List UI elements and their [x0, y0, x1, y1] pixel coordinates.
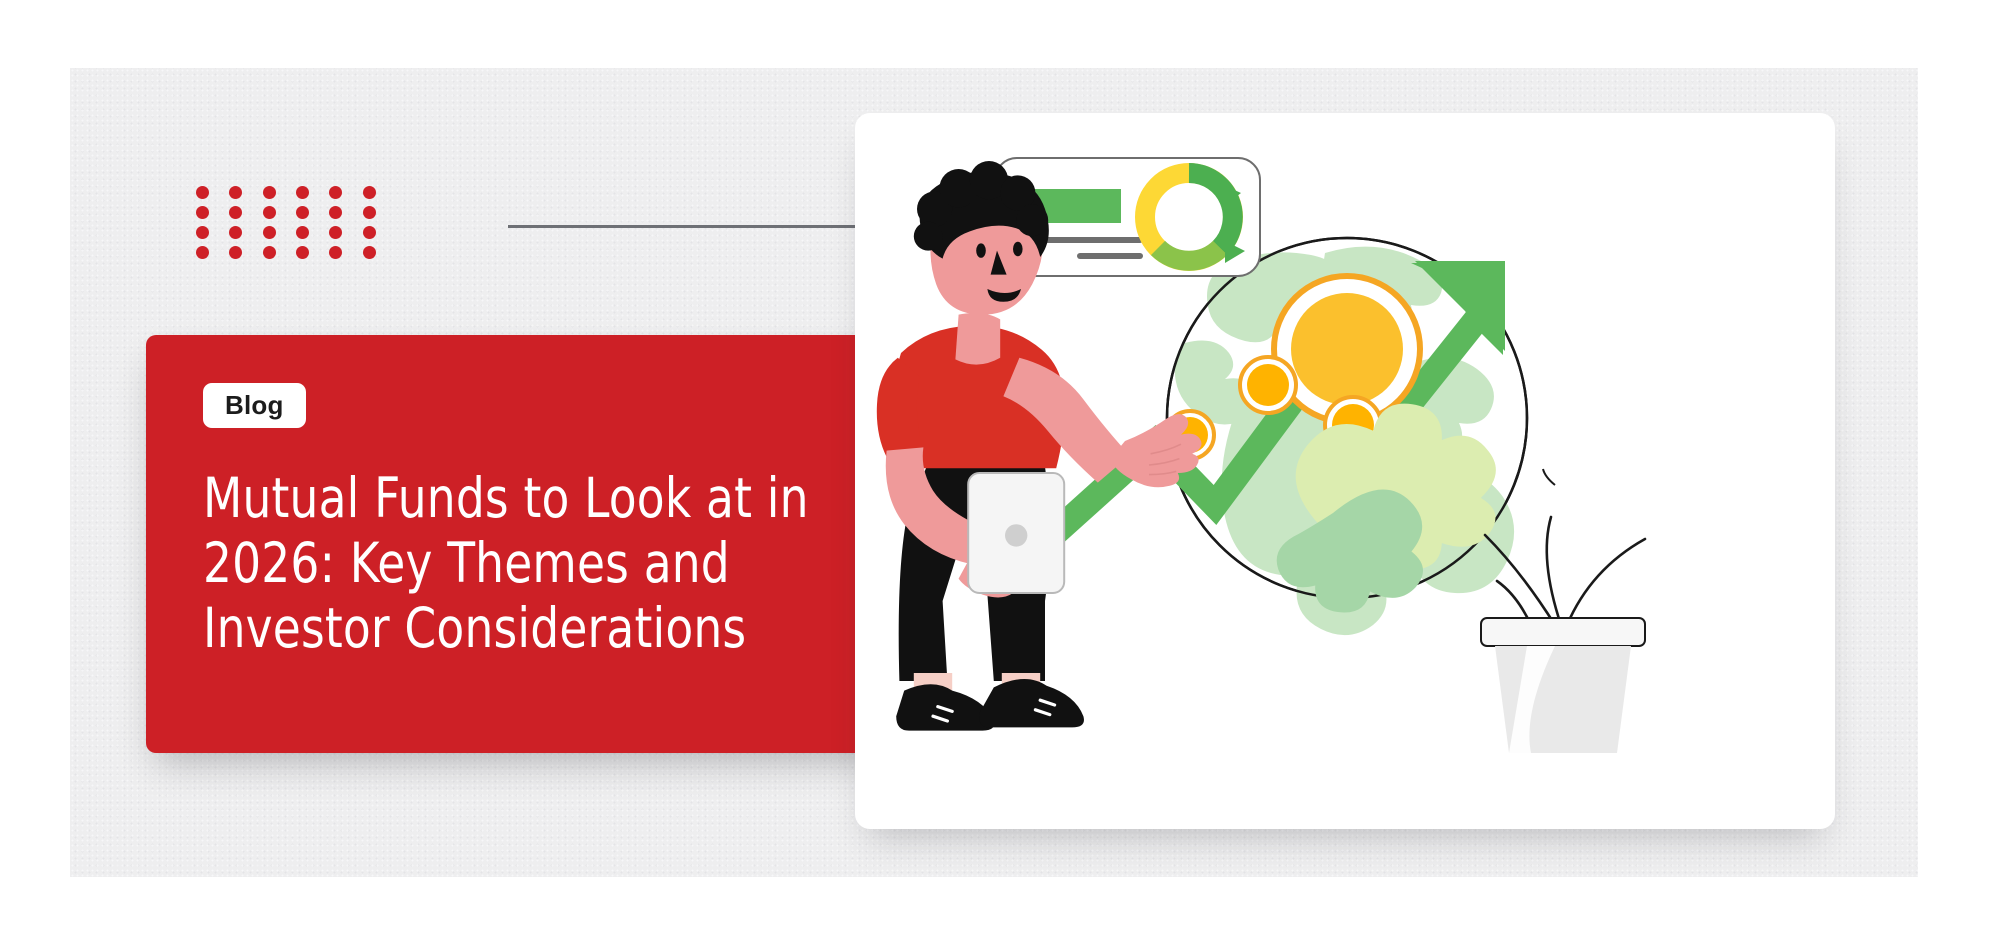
illustration-svg: [855, 113, 1835, 829]
shoes: [896, 679, 1084, 731]
dot: [296, 186, 309, 199]
status-badge: Blog: [203, 383, 306, 428]
illustration-card: [855, 113, 1835, 829]
page-title: Mutual Funds to Look at in 2026: Key The…: [203, 466, 867, 661]
text-line-short: [1077, 253, 1143, 259]
dot: [329, 206, 342, 219]
dot: [263, 226, 276, 239]
dot: [363, 226, 376, 239]
dot: [329, 246, 342, 259]
eye-right: [1013, 242, 1023, 256]
dot: [196, 206, 209, 219]
dot: [229, 226, 242, 239]
eye-left: [976, 243, 986, 257]
dot: [196, 186, 209, 199]
dot: [196, 246, 209, 259]
horizontal-divider: [508, 225, 856, 228]
banner-stage: Blog Mutual Funds to Look at in 2026: Ke…: [0, 0, 1990, 945]
dot: [363, 206, 376, 219]
dot: [229, 206, 242, 219]
dot: [296, 206, 309, 219]
dot: [196, 226, 209, 239]
dot: [363, 186, 376, 199]
dot-grid: [196, 186, 396, 266]
dot: [296, 226, 309, 239]
dot: [263, 186, 276, 199]
dot: [229, 246, 242, 259]
dot: [229, 186, 242, 199]
tablet-device: [968, 473, 1064, 593]
dot: [263, 246, 276, 259]
dot: [296, 246, 309, 259]
dot: [363, 246, 376, 259]
dot: [329, 226, 342, 239]
dot: [329, 186, 342, 199]
dot: [263, 206, 276, 219]
